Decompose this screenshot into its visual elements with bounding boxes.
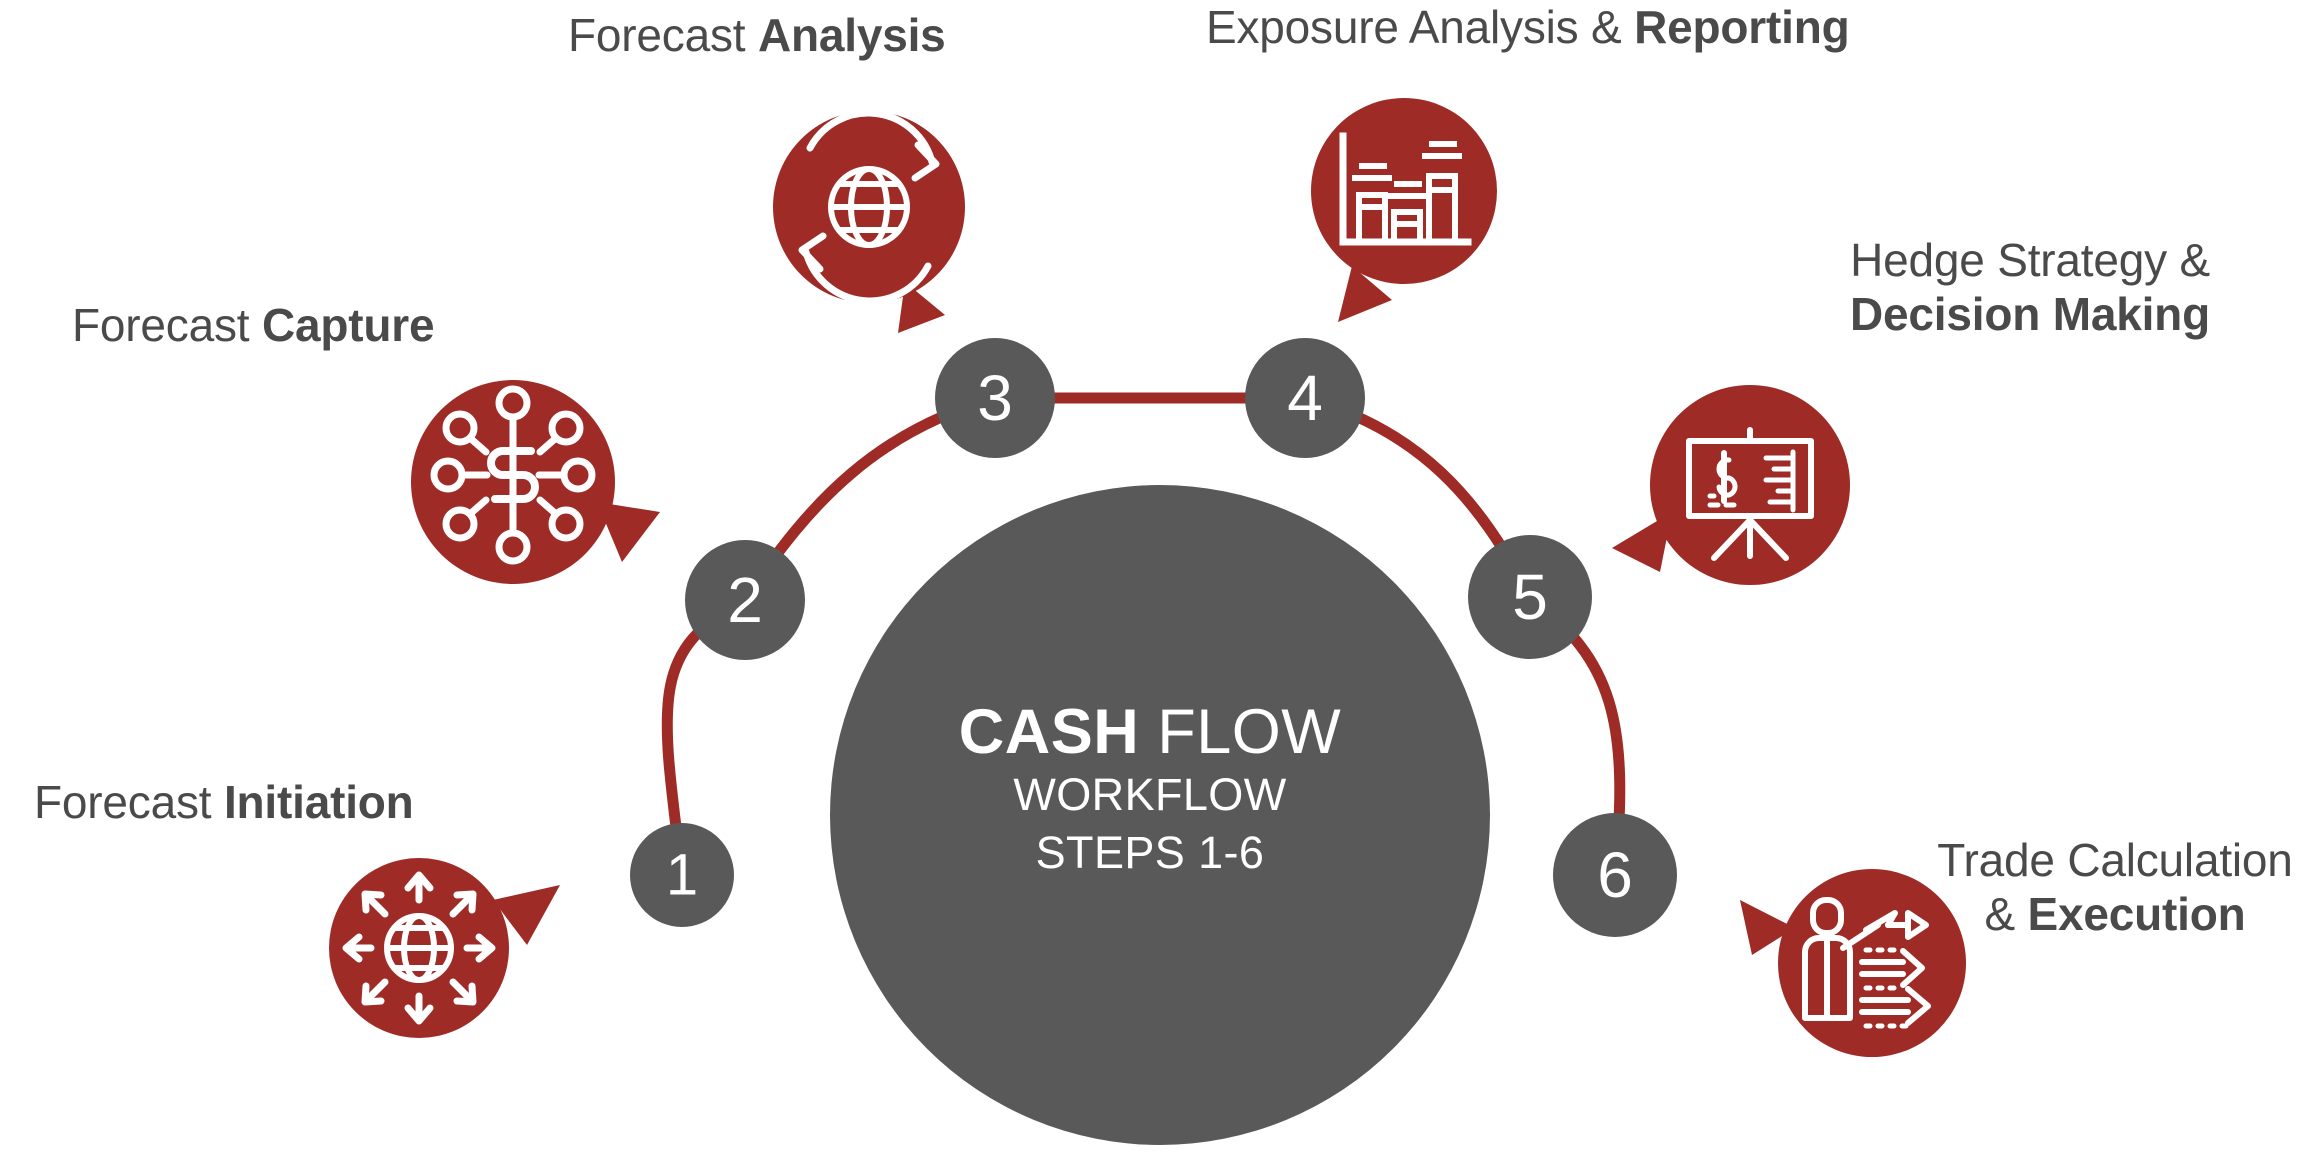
bubble-pointer [1612,512,1672,572]
step-number-2: 2 [727,564,763,636]
step-number-1: 1 [666,843,698,908]
step-label-forecast-analysis: Forecast Analysis [568,8,946,62]
label-5-line2: Decision Making [1810,287,2210,341]
bubble-pointer [597,502,660,562]
icon-bubble-forecast-analysis[interactable] [773,111,965,333]
step-circle-4[interactable]: 4 [1245,338,1365,458]
label-3-regular: Forecast [568,9,758,61]
icon-bubble-forecast-capture[interactable] [411,380,660,584]
label-2-regular: Forecast [72,299,262,351]
icon-bubble-exposure-reporting[interactable] [1311,98,1497,322]
step-number-5: 5 [1512,561,1548,633]
label-6-amp: & [1984,888,2027,940]
step-label-forecast-initiation: Forecast Initiation [34,775,414,829]
center-hub-circle [830,485,1490,1145]
step-circle-2[interactable]: 2 [685,540,805,660]
label-4-regular: Exposure Analysis & [1206,1,1634,53]
step-number-4: 4 [1287,362,1323,434]
step-circle-6[interactable]: 6 [1553,813,1677,937]
label-1-bold: Initiation [224,776,414,828]
icon-bubble-forecast-initiation[interactable] [329,858,560,1038]
label-6-line2: & Execution [1920,887,2310,941]
label-3-bold: Analysis [758,9,946,61]
step-circle-3[interactable]: 3 [935,338,1055,458]
label-6-bold: Execution [2028,888,2246,940]
step-label-exposure-reporting: Exposure Analysis & Reporting [1206,0,1850,54]
bubble-circle [1311,98,1497,284]
step-number-6: 6 [1597,839,1633,911]
globe-expand-arrows-icon [346,875,492,1021]
diagram-canvas: 1 2 3 4 5 6 [0,0,2317,1163]
label-5-line1: Hedge Strategy & [1810,233,2210,287]
label-1-regular: Forecast [34,776,224,828]
step-label-forecast-capture: Forecast Capture [72,298,434,352]
step-circle-5[interactable]: 5 [1468,535,1592,659]
icon-bubble-hedge-decision[interactable] [1612,385,1850,585]
label-6-line1: Trade Calculation [1920,833,2310,887]
step-label-hedge-decision: Hedge Strategy & Decision Making [1810,233,2210,342]
label-4-bold: Reporting [1634,1,1849,53]
cash-flow-workflow-diagram: 1 2 3 4 5 6 CASH FLOW WORKFLOW STEPS 1-6… [0,0,2317,1163]
step-circle-1[interactable]: 1 [630,823,734,927]
step-number-3: 3 [977,362,1013,434]
label-2-bold: Capture [262,299,434,351]
step-label-trade-execution: Trade Calculation & Execution [1920,833,2310,942]
